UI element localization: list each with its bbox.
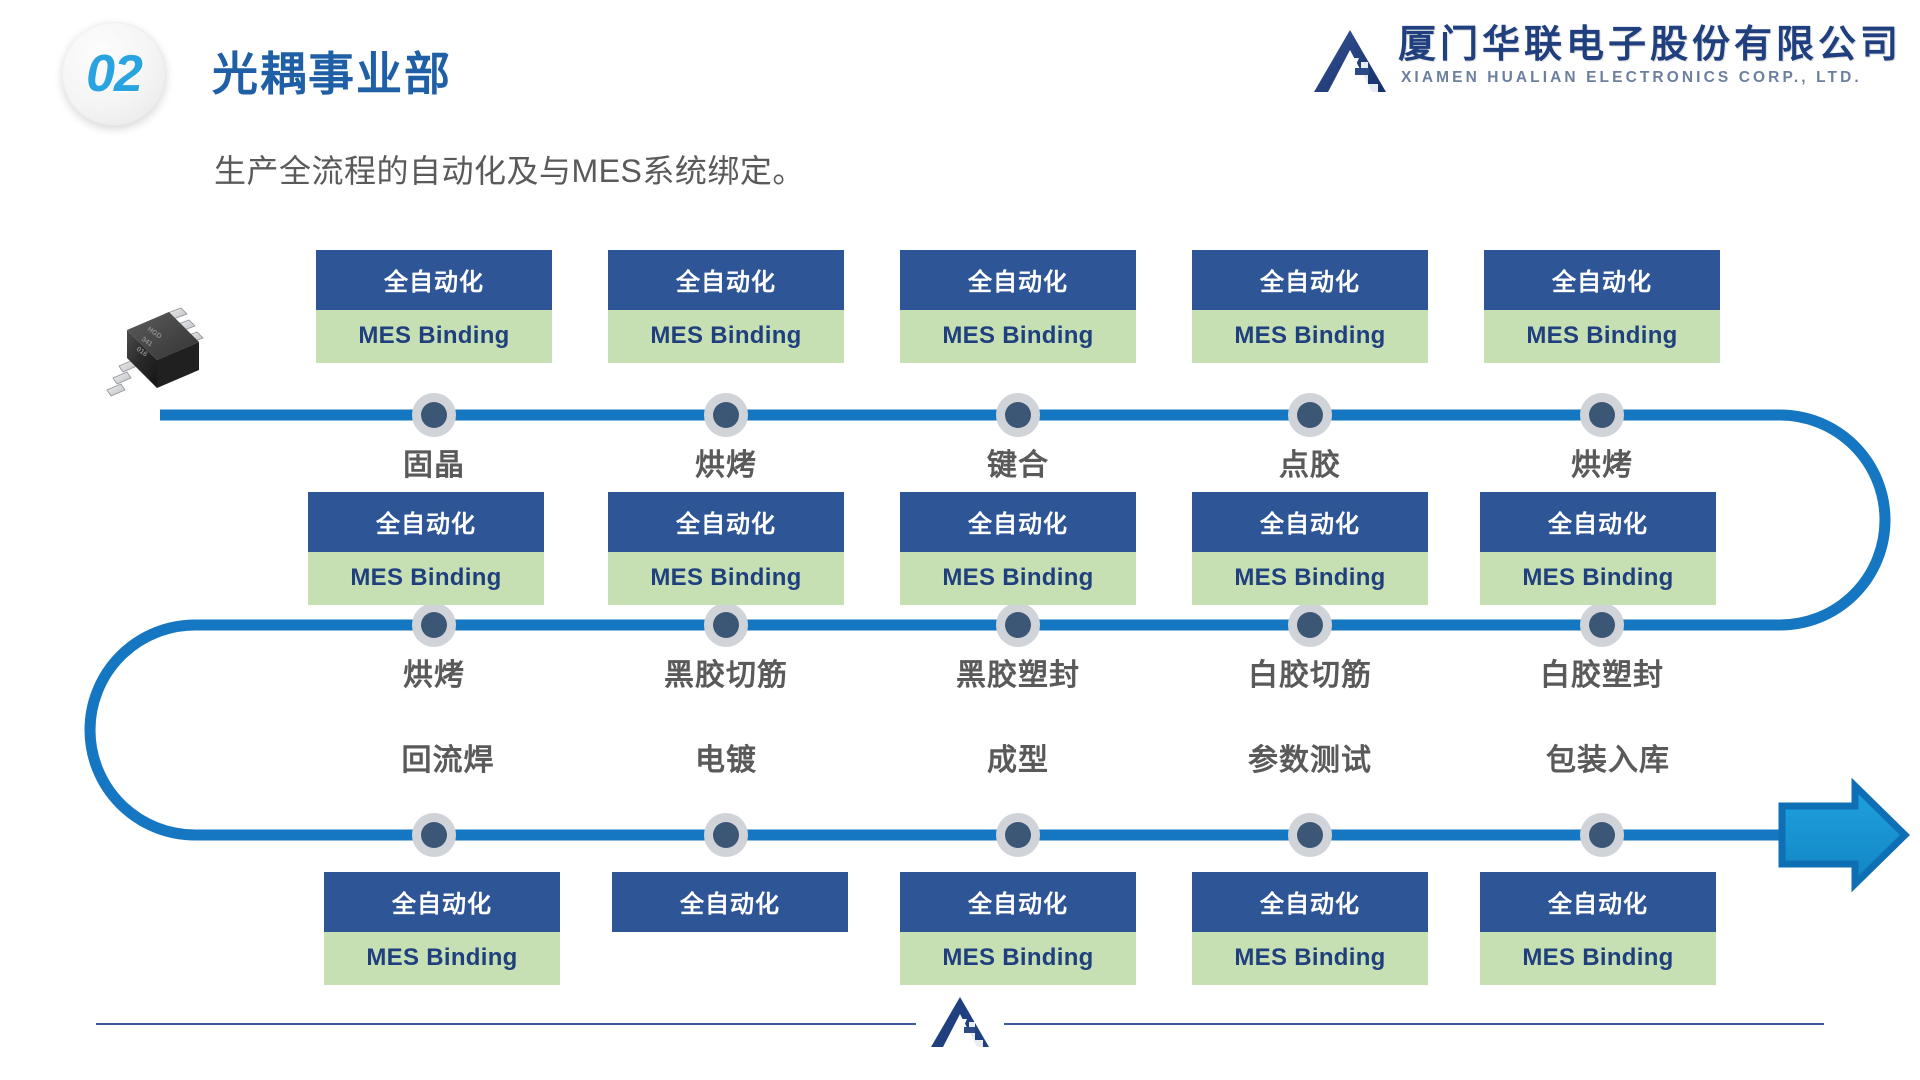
step-label-1-3: 白胶切筋: [1180, 650, 1440, 694]
flow-node-group-row1: [412, 393, 1624, 437]
flow-node-group-row3: [412, 813, 1624, 857]
step-label-1-4: 白胶塑封: [1472, 650, 1732, 694]
mes-binding-label: MES Binding: [1192, 552, 1428, 605]
flow-end-arrow-icon: [1782, 786, 1905, 884]
automation-label: 全自动化: [1484, 250, 1720, 310]
step-label-1-1: 黑胶切筋: [596, 650, 856, 694]
step-label-2-0: 回流焊: [318, 735, 578, 779]
process-box-2-0[interactable]: 全自动化 MES Binding: [324, 872, 560, 985]
mes-binding-label: MES Binding: [1484, 310, 1720, 363]
automation-label: 全自动化: [1192, 250, 1428, 310]
automation-label: 全自动化: [324, 872, 560, 932]
process-box-2-3[interactable]: 全自动化 MES Binding: [1192, 872, 1428, 985]
process-box-0-0[interactable]: 全自动化 MES Binding: [316, 250, 552, 363]
process-box-1-3[interactable]: 全自动化 MES Binding: [1192, 492, 1428, 605]
step-label-0-0: 固晶: [304, 440, 564, 484]
process-box-2-1[interactable]: 全自动化: [612, 872, 848, 932]
process-box-2-2[interactable]: 全自动化 MES Binding: [900, 872, 1136, 985]
process-box-0-4[interactable]: 全自动化 MES Binding: [1484, 250, 1720, 363]
automation-label: 全自动化: [900, 872, 1136, 932]
company-logo-text: 厦门华联电子股份有限公司 XIAMEN HUALIAN ELECTRONICS …: [1398, 26, 1902, 87]
automation-label: 全自动化: [1480, 492, 1716, 552]
step-label-0-4: 烘烤: [1472, 440, 1732, 484]
page-title: 光耦事业部: [212, 38, 452, 104]
mes-binding-label: MES Binding: [1480, 552, 1716, 605]
mes-binding-label: MES Binding: [308, 552, 544, 605]
mes-binding-label: MES Binding: [1480, 932, 1716, 985]
automation-label: 全自动化: [608, 250, 844, 310]
automation-label: 全自动化: [1192, 872, 1428, 932]
footer-divider-left: [96, 1023, 916, 1025]
process-box-0-3[interactable]: 全自动化 MES Binding: [1192, 250, 1428, 363]
section-number-badge: 02: [62, 22, 166, 126]
process-box-0-1[interactable]: 全自动化 MES Binding: [608, 250, 844, 363]
mes-binding-label: MES Binding: [900, 552, 1136, 605]
mes-binding-label: MES Binding: [324, 932, 560, 985]
process-box-1-2[interactable]: 全自动化 MES Binding: [900, 492, 1136, 605]
automation-label: 全自动化: [316, 250, 552, 310]
step-label-1-0: 烘烤: [304, 650, 564, 694]
process-box-1-0[interactable]: 全自动化 MES Binding: [308, 492, 544, 605]
step-label-1-2: 黑胶塑封: [888, 650, 1148, 694]
process-box-0-2[interactable]: 全自动化 MES Binding: [900, 250, 1136, 363]
mes-binding-label: MES Binding: [900, 932, 1136, 985]
company-logo: 厦门华联电子股份有限公司 XIAMEN HUALIAN ELECTRONICS …: [1312, 26, 1902, 96]
optocoupler-sop-chip-icon: HGD 341 016: [103, 300, 215, 412]
slide-footer: [0, 996, 1920, 1052]
mes-binding-label: MES Binding: [1192, 310, 1428, 363]
mes-binding-label: MES Binding: [316, 310, 552, 363]
mes-binding-label: MES Binding: [1192, 932, 1428, 985]
step-label-0-3: 点胶: [1180, 440, 1440, 484]
page-subtitle: 生产全流程的自动化及与MES系统绑定。: [214, 146, 805, 192]
process-box-1-1[interactable]: 全自动化 MES Binding: [608, 492, 844, 605]
slide-header: 02 光耦事业部 生产全流程的自动化及与MES系统绑定。 厦门华联电子股份有限公…: [0, 0, 1920, 200]
automation-label: 全自动化: [608, 492, 844, 552]
footer-hl-logo-icon: [929, 996, 991, 1050]
mes-binding-label: MES Binding: [608, 552, 844, 605]
step-label-2-2: 成型: [888, 735, 1148, 779]
automation-label: 全自动化: [900, 250, 1136, 310]
automation-label: 全自动化: [1192, 492, 1428, 552]
automation-label: 全自动化: [308, 492, 544, 552]
mes-binding-label: MES Binding: [900, 310, 1136, 363]
automation-label: 全自动化: [612, 872, 848, 932]
step-label-2-3: 参数测试: [1180, 735, 1440, 779]
automation-label: 全自动化: [1480, 872, 1716, 932]
hualian-hl-logo-icon: [1312, 28, 1388, 96]
company-name-cn: 厦门华联电子股份有限公司: [1398, 26, 1902, 66]
process-box-2-4[interactable]: 全自动化 MES Binding: [1480, 872, 1716, 985]
flow-node-group-row2: [412, 603, 1624, 647]
step-label-0-1: 烘烤: [596, 440, 856, 484]
footer-divider-right: [1004, 1023, 1824, 1025]
mes-binding-label: MES Binding: [608, 310, 844, 363]
process-box-1-4[interactable]: 全自动化 MES Binding: [1480, 492, 1716, 605]
step-label-2-4: 包装入库: [1478, 735, 1738, 779]
step-label-0-2: 键合: [888, 440, 1148, 484]
step-label-2-1: 电镀: [596, 735, 856, 779]
company-name-en: XIAMEN HUALIAN ELECTRONICS CORP., LTD.: [1398, 69, 1902, 87]
section-number-text: 02: [86, 44, 142, 104]
automation-label: 全自动化: [900, 492, 1136, 552]
